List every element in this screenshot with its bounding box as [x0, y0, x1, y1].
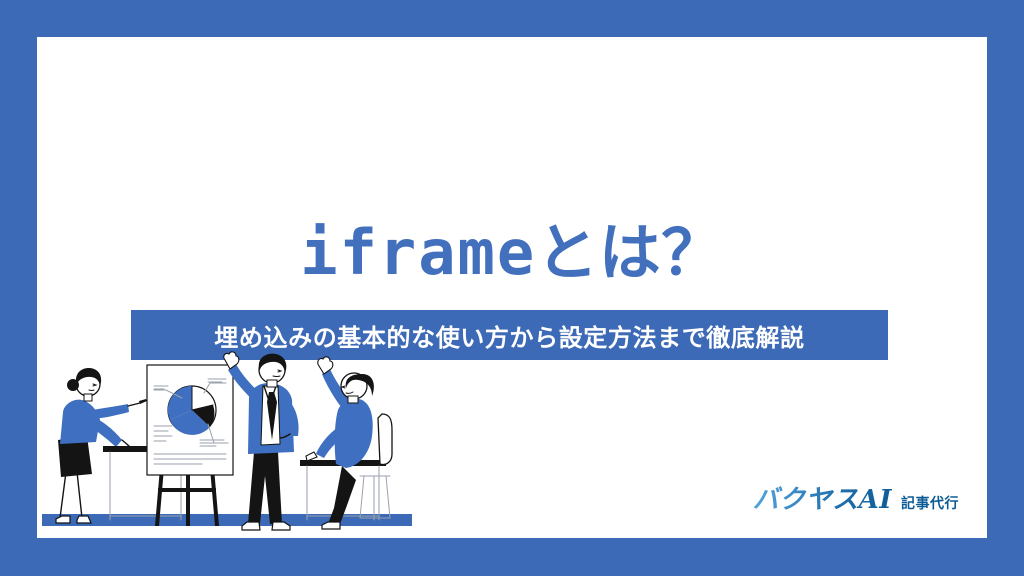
- slide-canvas: iframeとは？ 埋め込みの基本的な使い方から設定方法まで徹底解説 .bl{f…: [0, 0, 1024, 576]
- slide-white-panel: iframeとは？ 埋め込みの基本的な使い方から設定方法まで徹底解説 .bl{f…: [37, 37, 987, 538]
- flipchart-easel: [147, 365, 233, 526]
- brand-logo-tagline: 記事代行: [901, 493, 959, 513]
- figure-woman-standing: [56, 368, 147, 523]
- brand-logo: バクヤスAI 記事代行: [753, 479, 959, 516]
- title-mono-part: iframe: [300, 216, 536, 289]
- title-block: iframeとは？: [37, 220, 987, 286]
- page-title: iframeとは？: [37, 220, 987, 286]
- business-team-illustration: .bl{fill:#3f6fc0} .dk{fill:#141414} .wh{…: [42, 348, 412, 538]
- title-jp-part: とは？: [536, 216, 724, 289]
- brand-logo-name: バクヤスAI: [753, 479, 892, 516]
- figure-man-presenting: [224, 352, 299, 530]
